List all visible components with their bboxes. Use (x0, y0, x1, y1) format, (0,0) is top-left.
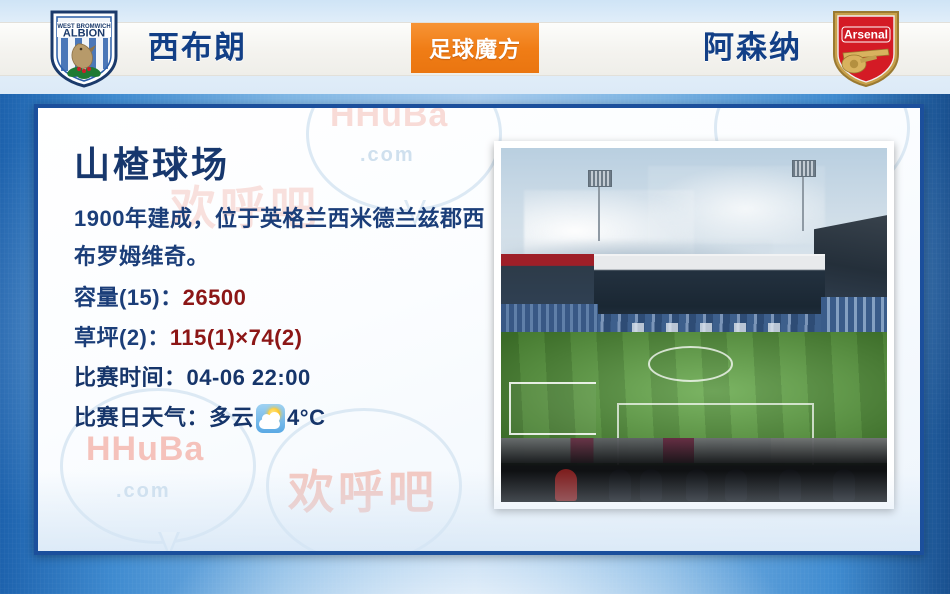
match-time-label: 比赛时间 (74, 365, 164, 390)
photo-crowd (501, 438, 887, 502)
photo-spectator (779, 469, 801, 501)
pitch-colon: ： (147, 325, 170, 350)
west-bromwich-albion-crest: WEST BROMWICH ALBION (48, 8, 120, 88)
photo-spectator (686, 469, 708, 501)
capacity-row: 容量(15)：26500 (74, 278, 504, 318)
pitch-label: 草坪(2) (74, 325, 147, 350)
weather-label: 比赛日天气 (74, 398, 187, 438)
site-logo-text: 足球魔方 (429, 32, 521, 64)
sun-behind-cloud-icon (256, 404, 285, 433)
home-team-name: 西布朗 (148, 29, 247, 67)
photo-floodlight-left (598, 183, 600, 241)
pitch-row: 草坪(2)：115(1)×74(2) (74, 318, 504, 358)
watermark-brand-cn-text-2: 欢呼吧 (288, 466, 438, 518)
photo-spectator (555, 469, 577, 501)
stadium-title: 山楂球场 (74, 144, 504, 186)
capacity-colon: ： (160, 285, 183, 310)
pitch-value: 115(1)×74(2) (170, 325, 303, 350)
photo-spectator (725, 469, 747, 501)
capacity-value: 26500 (183, 285, 247, 310)
photo-floodlight-right (802, 173, 804, 231)
site-logo[interactable]: 足球魔方 (411, 23, 539, 73)
photo-spectator (609, 469, 631, 501)
watermark-brand-text-2: HHuBa (330, 104, 448, 134)
stadium-description: 1900年建成，位于英格兰西米德兰兹郡西布罗姆维奇。 (74, 200, 486, 276)
weather-condition: 多云 (209, 398, 254, 438)
watermark-brand-cn-bottom: 欢呼吧 (288, 456, 438, 522)
capacity-label: 容量(15) (74, 285, 160, 310)
photo-center-circle (648, 346, 733, 382)
weather-row: 比赛日天气：多云 4°C (74, 398, 504, 438)
crest-text-main: ALBION (63, 28, 105, 40)
photo-spectator (833, 469, 855, 501)
photo-cloud-b (648, 166, 826, 244)
photo-spectator (640, 469, 662, 501)
watermark-domain-text: .com (116, 480, 171, 502)
arsenal-crest: Arsenal (830, 8, 902, 88)
weather-temperature: 4°C (287, 398, 325, 438)
match-time-colon: ： (164, 365, 187, 390)
watermark-bubble-tail-left (158, 532, 180, 555)
stadium-photo-frame (494, 141, 894, 509)
watermark-bubble-tail-center (364, 552, 386, 555)
photo-goal (509, 382, 596, 436)
away-team-name: 阿森纳 (703, 29, 802, 67)
watermark-domain-left: .com (116, 480, 171, 503)
match-time-value: 04-06 22:00 (187, 365, 311, 390)
watermark-brand-top: HHuBa (330, 104, 448, 135)
stadium-info-screen: WEST BROMWICH ALBION 西布朗 足球魔方 (0, 0, 950, 594)
stadium-photo (501, 148, 887, 502)
match-time-row: 比赛时间：04-06 22:00 (74, 358, 504, 398)
match-header: WEST BROMWICH ALBION 西布朗 足球魔方 (0, 0, 950, 94)
cloud-icon (259, 419, 280, 429)
stadium-info-block: 山楂球场 1900年建成，位于英格兰西米德兰兹郡西布罗姆维奇。 容量(15)：2… (74, 144, 504, 438)
crest-text-arsenal: Arsenal (844, 28, 888, 42)
weather-colon: ： (187, 398, 210, 438)
stadium-info-card: HHuBa .com HHuBa .com .com 欢呼吧 欢呼吧 山楂球场 … (34, 104, 924, 555)
